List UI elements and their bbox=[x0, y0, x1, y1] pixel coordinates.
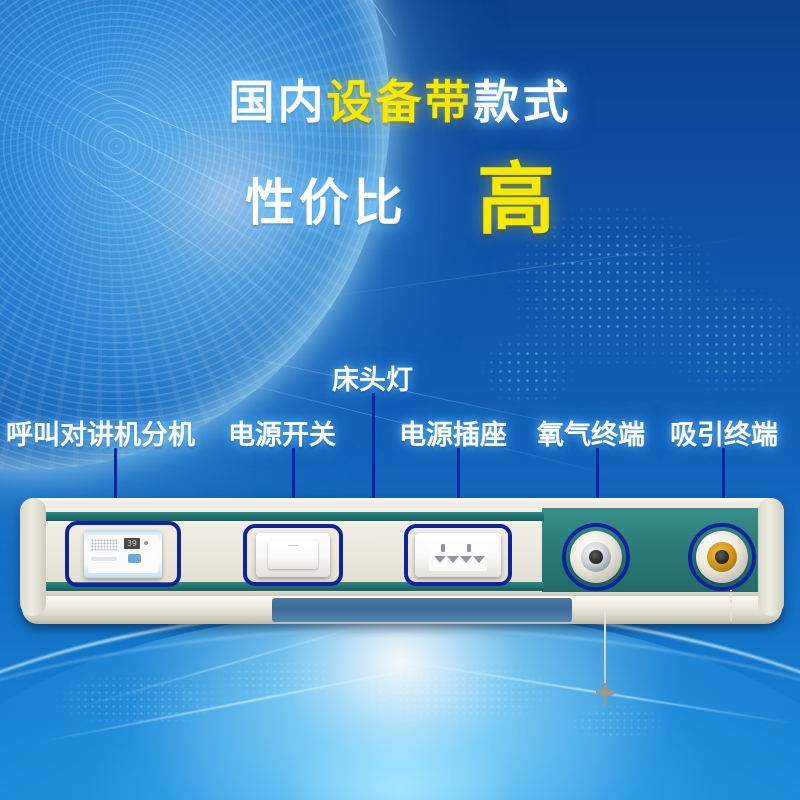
highlight-box-power-socket bbox=[404, 524, 512, 586]
headline-part-2: 款式 bbox=[474, 76, 572, 128]
callout-label-suction-terminal: 吸引终端 bbox=[670, 413, 778, 452]
subheadline-accent: 高 bbox=[477, 160, 555, 238]
headline-title: 国内设备带款式 bbox=[0, 78, 800, 126]
panel-stripe-top bbox=[32, 512, 544, 521]
highlight-box-intercom bbox=[65, 521, 181, 587]
subheadline-text: 性价比 bbox=[245, 163, 407, 235]
highlight-circle-oxygen-terminal bbox=[562, 523, 630, 591]
highlight-box-power-switch bbox=[243, 524, 343, 586]
callout-label-power-socket: 电源插座 bbox=[399, 413, 507, 452]
callout-label-oxygen-terminal: 氧气终端 bbox=[537, 413, 645, 452]
callout-label-power-switch: 电源开关 bbox=[228, 413, 336, 452]
headline-part-1: 国内 bbox=[229, 76, 327, 128]
callout-label-intercom: 呼叫对讲机分机 bbox=[6, 413, 195, 452]
promo-banner: 国内设备带款式 性价比 高 呼叫对讲机分机 床头灯 电源开关 电源插座 氧气终端… bbox=[0, 0, 800, 800]
horizon-arc-outer bbox=[0, 628, 800, 800]
panel-endcap-right bbox=[758, 498, 784, 616]
panel-endcap-left bbox=[20, 498, 46, 616]
terminal-cord bbox=[730, 588, 732, 622]
highlight-circle-suction-terminal bbox=[688, 523, 756, 591]
subheadline: 性价比 高 bbox=[0, 160, 800, 238]
rail-reflection bbox=[272, 598, 572, 622]
pull-cord[interactable] bbox=[604, 610, 606, 688]
callout-label-bedlamp: 床头灯 bbox=[332, 358, 413, 397]
headline-highlight: 设备带 bbox=[327, 76, 474, 128]
